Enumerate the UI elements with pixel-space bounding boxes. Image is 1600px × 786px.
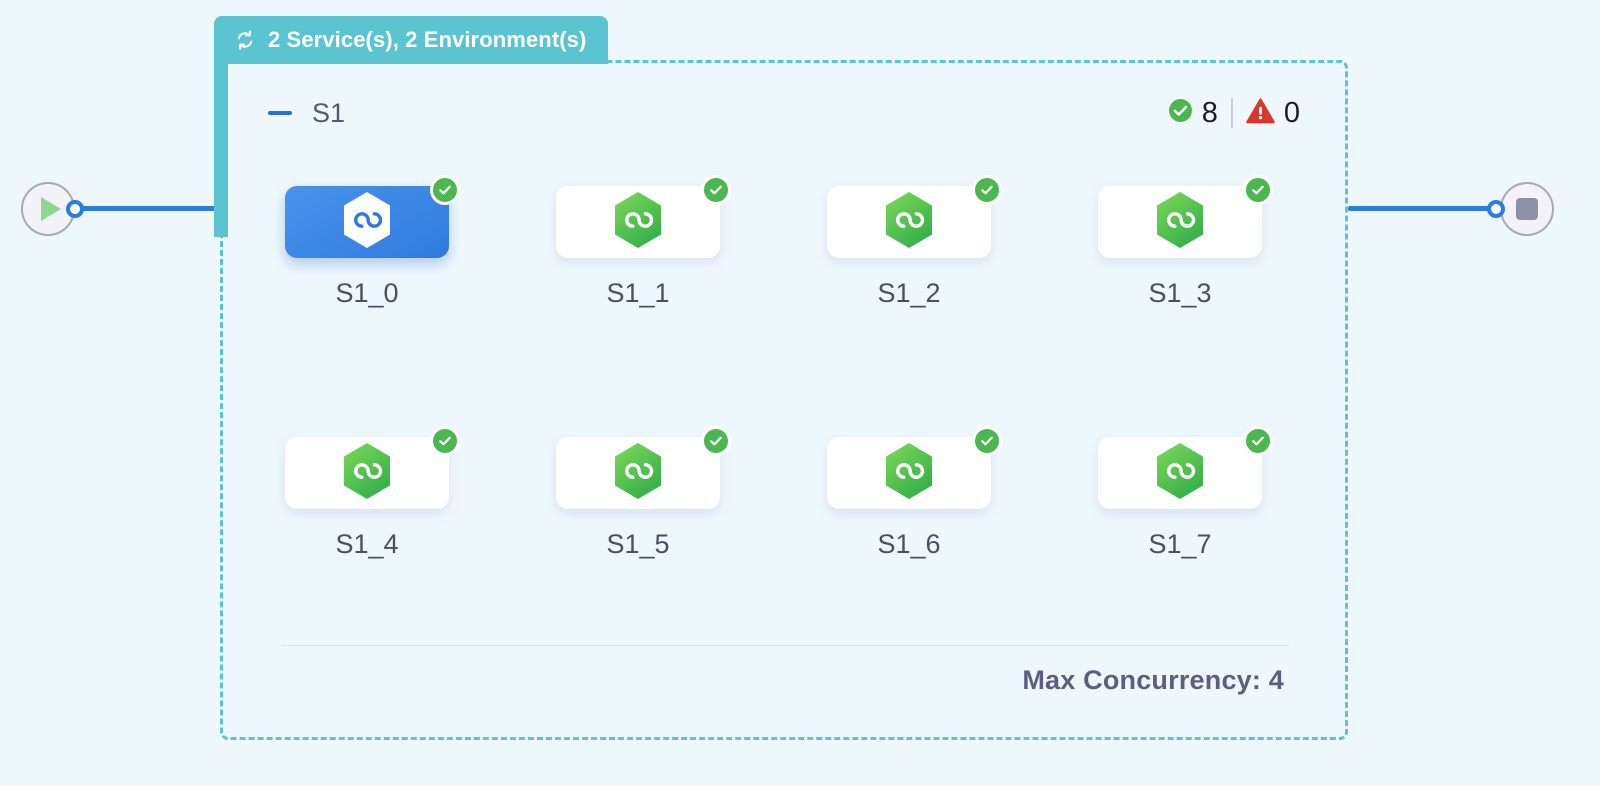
end-connector-handle[interactable] xyxy=(1487,200,1505,218)
loop-refresh-icon xyxy=(233,28,257,52)
node-label: S1_3 xyxy=(1090,278,1270,309)
node-card[interactable] xyxy=(556,437,720,509)
edge-start-to-group xyxy=(80,206,225,211)
status-divider xyxy=(1231,98,1233,128)
node-label: S1_6 xyxy=(819,529,999,560)
node-card[interactable] xyxy=(1098,437,1262,509)
check-circle-icon xyxy=(1168,98,1193,128)
node-card[interactable] xyxy=(1098,186,1262,258)
node-s1_6[interactable]: S1_6 xyxy=(819,437,999,560)
node-s1_3[interactable]: S1_3 xyxy=(1090,186,1270,309)
edge-group-to-end xyxy=(1348,206,1490,211)
node-s1_4[interactable]: S1_4 xyxy=(277,437,457,560)
group-tab[interactable]: 2 Service(s), 2 Environment(s) xyxy=(214,16,608,64)
node-card[interactable] xyxy=(556,186,720,258)
play-icon xyxy=(41,197,61,221)
check-circle-icon xyxy=(972,426,1002,456)
node-card[interactable] xyxy=(827,437,991,509)
node-card[interactable] xyxy=(285,437,449,509)
end-endpoint[interactable] xyxy=(1500,182,1554,236)
success-count: 8 xyxy=(1202,97,1218,130)
check-circle-icon xyxy=(701,426,731,456)
node-label: S1_2 xyxy=(819,278,999,309)
node-s1_2[interactable]: S1_2 xyxy=(819,186,999,309)
node-s1_0[interactable]: S1_0 xyxy=(277,186,457,309)
workflow-canvas: 2 Service(s), 2 Environment(s) S1 8 xyxy=(0,0,1600,786)
service-hexagon-icon xyxy=(339,441,395,506)
service-hexagon-icon xyxy=(881,190,937,255)
error-count: 0 xyxy=(1284,97,1300,130)
service-hexagon-icon xyxy=(1152,190,1208,255)
node-card[interactable] xyxy=(827,186,991,258)
node-label: S1_5 xyxy=(548,529,728,560)
check-circle-icon xyxy=(701,175,731,205)
service-hexagon-icon xyxy=(881,441,937,506)
service-hexagon-icon xyxy=(1152,441,1208,506)
service-hexagon-icon xyxy=(339,190,395,255)
start-connector-handle[interactable] xyxy=(66,200,84,218)
node-s1_5[interactable]: S1_5 xyxy=(548,437,728,560)
group-title: S1 xyxy=(312,98,345,129)
check-circle-icon xyxy=(1243,175,1273,205)
node-label: S1_7 xyxy=(1090,529,1270,560)
status-counts: 8 0 xyxy=(1168,97,1300,130)
node-label: S1_1 xyxy=(548,278,728,309)
node-label: S1_0 xyxy=(277,278,457,309)
node-s1_7[interactable]: S1_7 xyxy=(1090,437,1270,560)
service-hexagon-icon xyxy=(610,441,666,506)
success-count-group: 8 xyxy=(1168,97,1218,130)
check-circle-icon xyxy=(972,175,1002,205)
error-count-group: 0 xyxy=(1246,97,1300,130)
stop-icon xyxy=(1516,198,1538,220)
warning-triangle-icon xyxy=(1246,98,1275,129)
minus-icon[interactable] xyxy=(268,111,292,115)
group-header: S1 8 xyxy=(268,92,1300,134)
service-hexagon-icon xyxy=(610,190,666,255)
node-s1_1[interactable]: S1_1 xyxy=(548,186,728,309)
check-circle-icon xyxy=(1243,426,1273,456)
check-circle-icon xyxy=(430,426,460,456)
node-card[interactable] xyxy=(285,186,449,258)
check-circle-icon xyxy=(430,175,460,205)
group-container xyxy=(220,60,1348,740)
max-concurrency-label: Max Concurrency: 4 xyxy=(1022,665,1284,696)
node-label: S1_4 xyxy=(277,529,457,560)
group-tab-label: 2 Service(s), 2 Environment(s) xyxy=(268,27,586,53)
footer-divider xyxy=(281,645,1289,646)
